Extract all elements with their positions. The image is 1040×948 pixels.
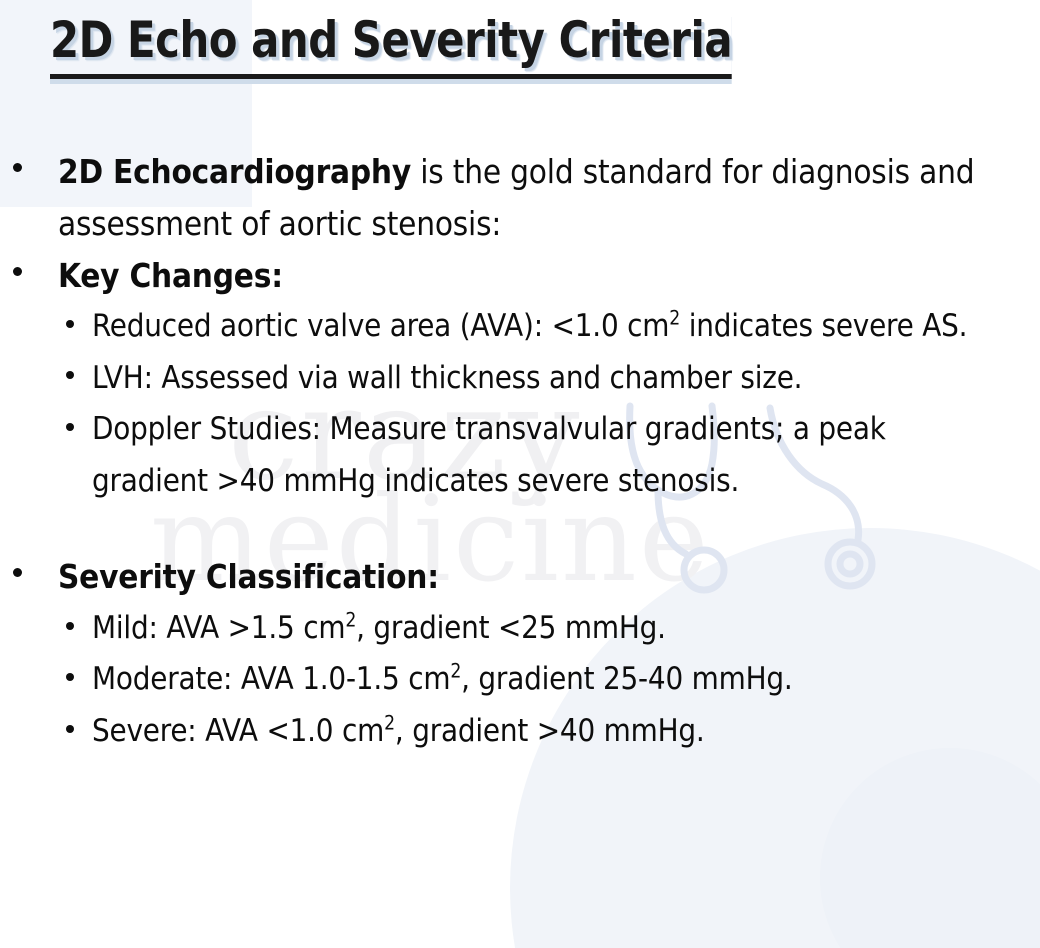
- page-title: 2D Echo and Severity Criteria: [50, 12, 732, 79]
- bullet-item-1: 2D Echocardiography is the gold standard…: [0, 146, 1040, 250]
- bullet-item-8: Moderate: AVA 1.0-1.5 cm2, gradient 25-4…: [0, 654, 1040, 705]
- bullet-item-7: Mild: AVA >1.5 cm2, gradient <25 mmHg.: [0, 603, 1040, 654]
- bullet-text-3: Reduced aortic valve area (AVA): <1.0 cm…: [92, 308, 967, 344]
- bullet-text-9: Severe: AVA <1.0 cm2, gradient >40 mmHg.: [92, 713, 705, 749]
- bullet-lead-1: 2D Echocardiography: [58, 152, 411, 191]
- bullet-text-4: LVH: Assessed via wall thickness and cha…: [92, 360, 802, 396]
- bullet-lead-6: Severity Classification:: [58, 557, 439, 596]
- bullet-text-5: Doppler Studies: Measure transvalvular g…: [92, 411, 886, 498]
- bullet-item-3: Reduced aortic valve area (AVA): <1.0 cm…: [0, 301, 1040, 352]
- bullet-dot-icon: [66, 423, 74, 431]
- section-spacer: [0, 507, 1040, 551]
- bullet-text-7: Mild: AVA >1.5 cm2, gradient <25 mmHg.: [92, 610, 666, 646]
- bullet-dot-icon: [66, 673, 74, 681]
- bullet-item-6: Severity Classification:: [0, 551, 1040, 603]
- bullet-item-4: LVH: Assessed via wall thickness and cha…: [0, 353, 1040, 404]
- slide-canvas: crazy medicine 2D Echo and Severity Crit…: [0, 0, 1040, 948]
- bullet-lead-2: Key Changes:: [58, 256, 283, 295]
- body-content: 2D Echocardiography is the gold standard…: [0, 146, 1040, 757]
- bullet-text-8: Moderate: AVA 1.0-1.5 cm2, gradient 25-4…: [92, 661, 793, 697]
- bullet-dot-icon: [66, 725, 74, 733]
- bullet-dot-icon: [13, 163, 22, 172]
- bullet-dot-icon: [66, 371, 74, 379]
- bullet-dot-icon: [66, 320, 74, 328]
- bullet-item-2: Key Changes:: [0, 250, 1040, 302]
- bullet-dot-icon: [13, 267, 22, 276]
- bullet-dot-icon: [66, 622, 74, 630]
- bullet-item-5: Doppler Studies: Measure transvalvular g…: [0, 404, 1040, 507]
- title-container: 2D Echo and Severity Criteria: [0, 12, 1040, 79]
- bullet-item-9: Severe: AVA <1.0 cm2, gradient >40 mmHg.: [0, 706, 1040, 757]
- bullet-dot-icon: [13, 568, 22, 577]
